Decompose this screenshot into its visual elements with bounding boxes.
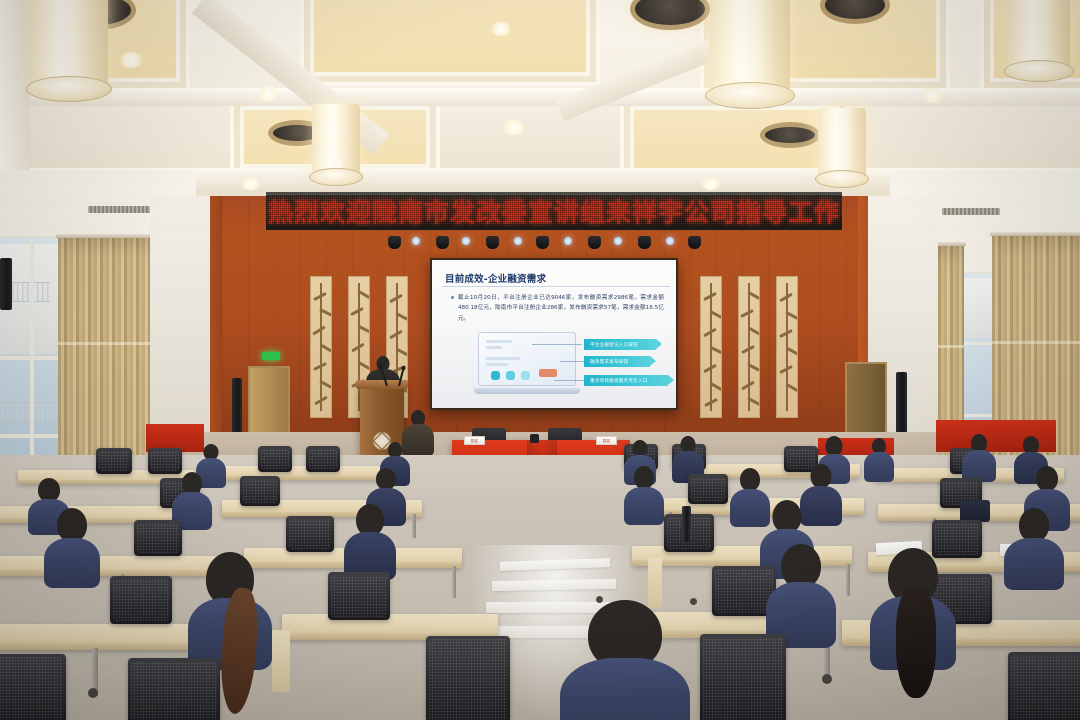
- name-card: 姓名: [464, 436, 485, 445]
- downlight: [256, 86, 280, 101]
- desk-modesty-panel: [272, 630, 290, 692]
- chair[interactable]: [426, 636, 510, 720]
- chair[interactable]: [110, 576, 172, 624]
- slide-callout: 重点项目融资服务专区入口: [584, 375, 668, 386]
- chair[interactable]: [128, 658, 220, 720]
- water-bottle: [682, 506, 691, 542]
- slide-leader-line: [554, 380, 586, 381]
- projection-screen-frame: 目前成效-企业融资需求 截止10月20日，平台注册企业已达9046家，发布融资需…: [430, 258, 678, 410]
- audience-member: [624, 466, 664, 522]
- downlight: [490, 22, 512, 36]
- downlight: [920, 88, 944, 103]
- wall-carving-panel: [738, 276, 760, 418]
- air-vent: [942, 208, 1000, 215]
- audience-member: [172, 472, 212, 526]
- desk-caster: [822, 674, 832, 684]
- banner-text: 热烈欢迎陇南市发改委宣讲组来祥宇公司指导工作: [268, 193, 840, 229]
- wall-speaker: [0, 258, 12, 310]
- pendant-lamp: [710, 0, 790, 118]
- led-welcome-banner: 热烈欢迎陇南市发改委宣讲组来祥宇公司指导工作: [266, 192, 842, 230]
- table-object: [530, 434, 539, 443]
- chair[interactable]: [0, 654, 66, 720]
- chair[interactable]: [240, 476, 280, 506]
- chair[interactable]: [134, 520, 182, 556]
- chair[interactable]: [328, 572, 390, 620]
- downlight: [700, 178, 722, 190]
- downlight: [240, 178, 262, 190]
- downlight: [118, 52, 144, 68]
- slide-callout: 平台注册登记入口按钮: [584, 339, 656, 350]
- pendant-lamp: [818, 108, 866, 194]
- desk-leg: [452, 566, 456, 598]
- chair[interactable]: [688, 474, 728, 504]
- conference-hall-photo: 热烈欢迎陇南市发改委宣讲组来祥宇公司指导工作 目前成效-企业融资需求 截止10月…: [0, 0, 1080, 720]
- chair[interactable]: [306, 446, 340, 472]
- slide-body-text: 截止10月20日，平台注册企业已达9046家，发布融资需求2986笔，需求金额4…: [458, 293, 664, 324]
- long-hair: [896, 586, 936, 698]
- ceiling-ring-light: [760, 122, 820, 148]
- chair[interactable]: [148, 448, 182, 474]
- stage-spotlight-track: [384, 236, 714, 250]
- chair[interactable]: [286, 516, 334, 552]
- chair[interactable]: [258, 446, 292, 472]
- pendant-lamp: [30, 0, 108, 110]
- audience-member: [766, 544, 836, 642]
- ceiling-beam: [0, 88, 1080, 106]
- presentation-slide: 目前成效-企业融资需求 截止10月20日，平台注册企业已达9046家，发布融资需…: [432, 260, 676, 408]
- desk-caster: [690, 598, 697, 605]
- audience-member: [44, 508, 100, 580]
- audience-member: [864, 438, 894, 480]
- name-card: 姓名: [596, 436, 617, 445]
- audience-member-foreground: [560, 600, 690, 720]
- audience-member: [344, 504, 396, 574]
- chair[interactable]: [96, 448, 132, 474]
- slide-bullet-icon: [451, 296, 454, 299]
- slide-title: 目前成效-企业融资需求: [445, 271, 546, 285]
- bag: [960, 500, 990, 522]
- slide-divider: [442, 286, 670, 287]
- slide-callout: 融资需求发布按钮: [584, 356, 650, 367]
- exit-sign-icon: [262, 352, 280, 360]
- downlight: [502, 120, 526, 135]
- pendant-lamp: [312, 104, 360, 192]
- audience-member: [1004, 508, 1064, 584]
- wall-carving-panel: [776, 276, 798, 418]
- ceiling-ring-light: [630, 0, 710, 30]
- slide-laptop-mockup: [474, 332, 580, 394]
- ceiling-coffer: [300, 0, 600, 86]
- desk-row1: [210, 466, 380, 480]
- pendant-lamp: [1008, 0, 1070, 88]
- desk-leg: [412, 514, 416, 538]
- desk-leg: [846, 564, 850, 596]
- chair[interactable]: [700, 634, 786, 720]
- audience-member: [962, 434, 996, 480]
- slide-leader-line: [560, 361, 586, 362]
- wall-carving-panel: [310, 276, 332, 418]
- wall-carving-panel: [700, 276, 722, 418]
- air-vent: [88, 206, 150, 213]
- stage-left-alcove: [150, 196, 210, 461]
- desk-caster: [88, 688, 98, 698]
- chair[interactable]: [1008, 652, 1080, 720]
- slide-leader-line: [532, 344, 582, 345]
